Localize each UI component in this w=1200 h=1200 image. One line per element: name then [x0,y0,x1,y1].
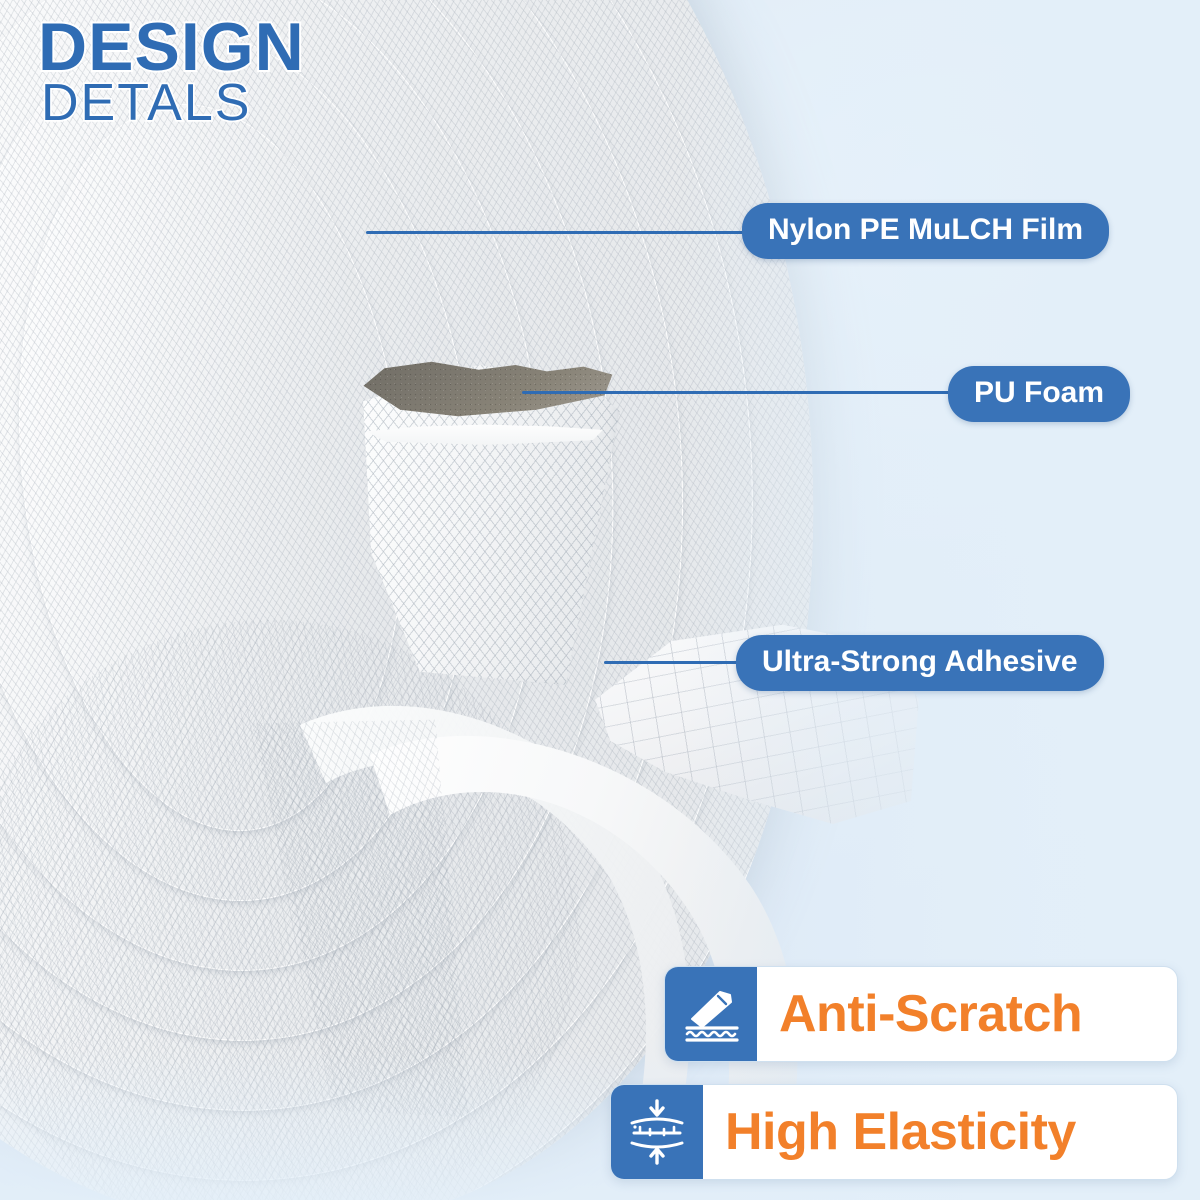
callout-pu-foam-label: PU Foam [974,376,1104,410]
title-line-primary: DESIGN [38,14,305,81]
feature-badge-anti-scratch[interactable]: Anti-Scratch [664,966,1178,1062]
callout-nylon-film[interactable]: Nylon PE MuLCH Film [742,203,1109,259]
compression-arrows-icon [611,1085,703,1179]
feature-badge-high-elasticity[interactable]: High Elasticity [610,1084,1178,1180]
leader-line-adhesive [604,661,742,664]
feature-high-elasticity-label: High Elasticity [703,1085,1102,1179]
callout-adhesive[interactable]: Ultra-Strong Adhesive [736,635,1104,691]
callout-adhesive-label: Ultra-Strong Adhesive [762,645,1078,679]
callout-nylon-film-label: Nylon PE MuLCH Film [768,213,1083,247]
callout-pu-foam[interactable]: PU Foam [948,366,1130,422]
leader-line-nylon-film [366,231,748,234]
blade-scratch-icon [665,967,757,1061]
infographic-canvas: DESIGN DETALS Nylon PE MuLCH Film PU Foa… [0,0,1200,1200]
page-title: DESIGN DETALS [38,14,305,129]
feature-anti-scratch-label: Anti-Scratch [757,967,1108,1061]
leader-line-pu-foam [522,391,954,394]
